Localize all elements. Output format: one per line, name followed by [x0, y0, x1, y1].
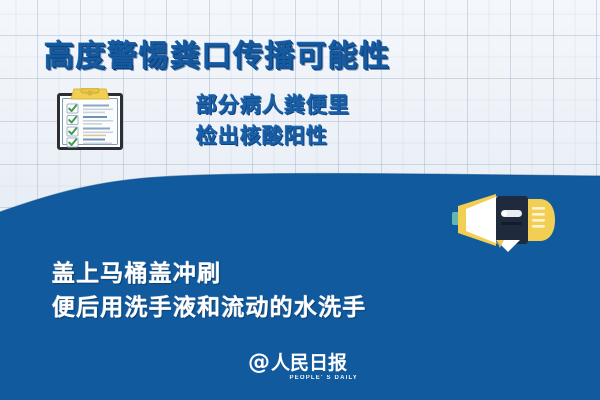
page-title: 高度警惕粪口传播可能性	[44, 31, 391, 75]
subheadline: 部分病人粪便里 检出核酸阳性	[196, 90, 350, 152]
logo-main-row: @ 人民日报	[248, 352, 360, 374]
megaphone-icon	[452, 190, 556, 252]
slogan: 盖上马桶盖冲刷 便后用洗手液和流动的水洗手	[52, 256, 367, 324]
at-symbol-icon: @	[248, 352, 270, 374]
clipboard-checklist-icon	[57, 88, 123, 150]
slogan-line-2: 便后用洗手液和流动的水洗手	[52, 290, 367, 324]
infographic-poster: 高度警惕粪口传播可能性 部分病人粪便里 检	[0, 0, 600, 400]
subheadline-line-1: 部分病人粪便里	[196, 90, 350, 121]
slogan-line-1: 盖上马桶盖冲刷	[52, 256, 367, 290]
subheadline-line-2: 检出核酸阳性	[196, 121, 350, 152]
logo-english-name: PEOPLE' S DAILY	[248, 374, 360, 382]
logo-chinese-name: 人民日报	[271, 353, 347, 374]
peoples-daily-logo: @ 人民日报 PEOPLE' S DAILY	[248, 352, 360, 384]
